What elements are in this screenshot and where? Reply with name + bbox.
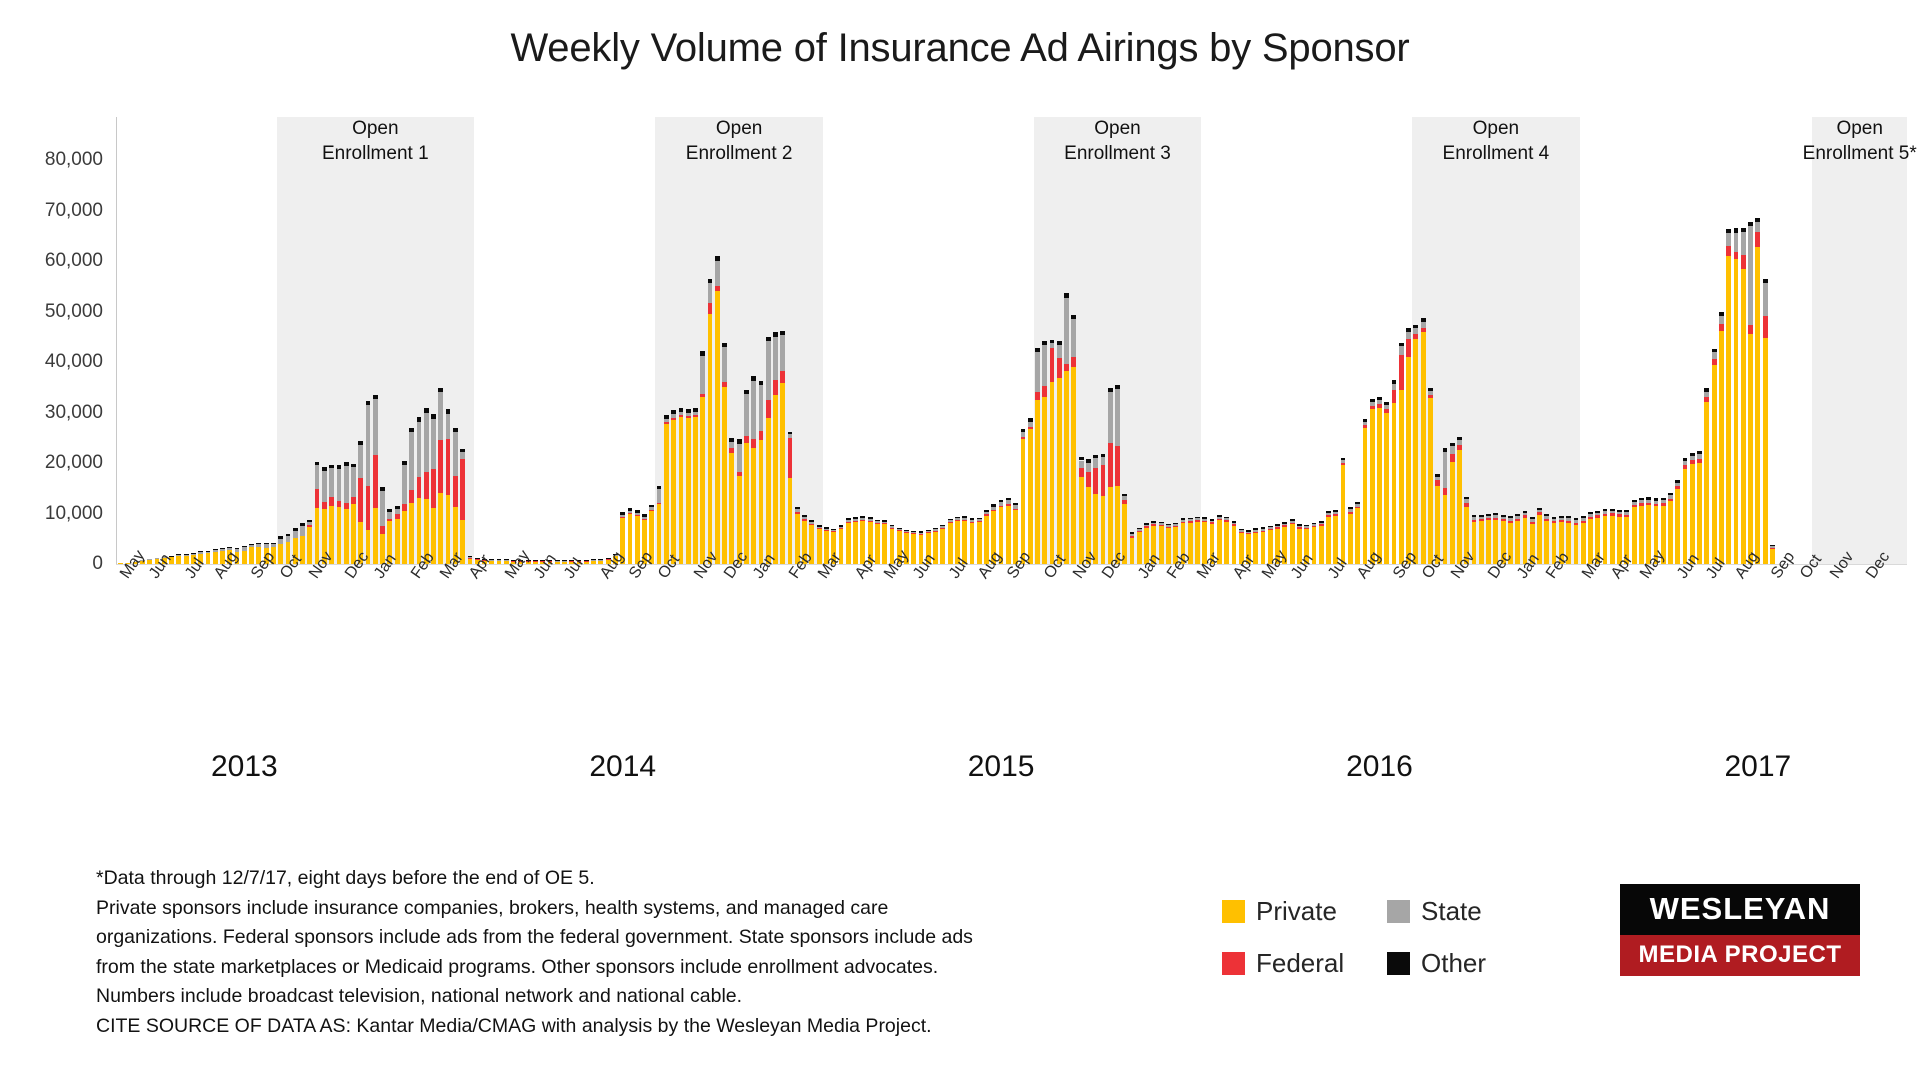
bar-segment-federal [1304,528,1309,529]
bar-segment-other [1610,509,1615,511]
bar-segment-private [591,561,596,564]
legend-item-other[interactable]: Other [1387,948,1552,979]
bar-segment-other [1624,510,1629,512]
bar-segment-private [1632,507,1637,564]
bar-segment-other [453,428,458,433]
bar [817,525,822,564]
bar-segment-other [1726,229,1731,234]
bar [853,517,858,564]
bar-segment-federal [1617,514,1622,516]
bar-segment-federal [307,525,312,528]
bar-segment-other [962,516,967,517]
bar-segment-private [1675,489,1680,564]
bar [1675,480,1680,564]
bar-segment-private [1348,514,1353,565]
bar-segment-federal [657,503,662,504]
bar-segment-other [809,520,814,522]
bar [1763,279,1768,564]
bar-segment-other [307,520,312,522]
bar-segment-other [562,560,567,561]
bar-segment-federal [1253,532,1258,533]
bar-segment-state [824,529,829,530]
bar [1326,511,1331,564]
bar-segment-state [904,531,909,532]
y-axis-tick-label: 30,000 [45,402,103,424]
bar-segment-state [809,522,814,524]
bar-segment-federal [1472,520,1477,522]
bar-segment-state [1588,514,1593,517]
bar-segment-state [1122,496,1127,500]
bar-segment-federal [1515,519,1520,521]
bar-segment-other [860,516,865,518]
bar-segment-other [853,517,858,519]
bar-segment-federal [1115,446,1120,485]
bar-segment-private [1377,408,1382,564]
bar-segment-federal [831,531,836,532]
bar-segment-state [1697,454,1702,459]
bar [176,555,181,564]
bar-segment-state [1086,463,1091,472]
bar-segment-state [380,491,385,526]
footnote-line: organizations. Federal sponsors include … [96,923,1186,953]
bar-segment-federal [402,504,407,511]
bar-segment-state [1661,500,1666,503]
bar-segment-private [977,522,982,564]
bar-segment-private [671,420,676,564]
bar-segment-state [1552,519,1557,522]
bar-segment-state [1624,512,1629,515]
bar-segment-state [1071,319,1076,357]
bar-segment-state [744,394,749,435]
legend-item-federal[interactable]: Federal [1222,948,1387,979]
bar-segment-federal [1639,503,1644,506]
bar-segment-private [1370,409,1375,564]
bar-segment-other [409,428,414,433]
bar [664,415,669,564]
bar-segment-federal [1108,443,1113,487]
bar-segment-state [147,559,152,560]
bar-segment-federal [1239,532,1244,533]
bar-segment-state [468,557,473,558]
bar [424,408,429,564]
bar [366,401,371,564]
bar [1443,448,1448,564]
bar [1683,458,1688,564]
bar-segment-state [1101,457,1106,465]
bar-segment-private [948,523,953,564]
legend-item-state[interactable]: State [1387,896,1552,927]
bar-segment-state [940,526,945,528]
bar-segment-other [504,559,509,560]
bar-segment-other [1181,518,1186,520]
bar-segment-federal [1704,397,1709,402]
bar [1574,518,1579,564]
bar [657,485,662,564]
bar-segment-private [1050,382,1055,564]
bar-segment-private [1057,378,1062,564]
bar [948,519,953,564]
bar-segment-federal [977,521,982,522]
bar [1413,325,1418,564]
bar-segment-other [1515,514,1520,516]
bar-segment-private [1457,450,1462,564]
bar-segment-state [1472,517,1477,520]
bar-segment-state [948,520,953,522]
bar-segment-state [256,544,261,547]
legend-row: FederalOther [1222,948,1552,979]
bar [977,518,982,564]
bar [373,395,378,564]
bar-segment-other [1028,418,1033,421]
bar-segment-state [1748,226,1753,324]
bar-segment-state [1639,500,1644,503]
bar-segment-federal [1566,521,1571,523]
bar-segment-other [744,390,749,395]
bar-segment-other [191,553,196,554]
bar-segment-other [1734,228,1739,233]
bar-segment-state [1050,343,1055,348]
bar-segment-other [780,331,785,336]
bar-segment-state [795,509,800,512]
bar-segment-state [1668,495,1673,498]
bar-segment-state [1079,461,1084,469]
bar-segment-state [1770,546,1775,548]
bar-segment-state [1268,527,1273,529]
bar-segment-state [686,413,691,417]
bar-segment-state [1312,524,1317,526]
bar-segment-federal [1697,459,1702,463]
year-tick-label: 2014 [589,750,656,784]
bar-segment-other [1508,516,1513,518]
bar-segment-federal [409,490,414,503]
bar-segment-other [904,530,909,531]
bar-segment-other [1697,451,1702,454]
bar [1734,228,1739,564]
bar-segment-federal [1232,524,1237,525]
bar-segment-state [1537,510,1542,513]
bar [759,381,764,564]
bar-segment-federal [708,303,713,314]
bar-segment-private [1319,526,1324,564]
bar-segment-state [1210,521,1215,523]
bar-segment-state [1181,520,1186,522]
bar-segment-state [788,434,793,438]
bar-segment-other [991,504,996,506]
bar-segment-federal [751,439,756,448]
bar-segment-state [351,467,356,497]
bar-segment-other [817,525,822,527]
bar [1050,340,1055,564]
legend-label: Other [1421,948,1486,979]
bar-segment-federal [766,400,771,417]
bar-segment-other [1253,528,1258,530]
bar [1137,528,1142,564]
bar-segment-state [1392,384,1397,391]
bar-segment-federal [1050,348,1055,382]
bar-segment-other [933,528,938,529]
bar-segment-other [293,528,298,531]
bar-segment-private [1195,522,1200,564]
bar-segment-other [329,465,334,469]
bar-segment-other [868,517,873,519]
bar-segment-other [497,559,502,560]
bar [686,409,691,564]
bar-segment-other [788,432,793,434]
bar-segment-federal [1348,512,1353,514]
bar-segment-federal [1501,519,1506,521]
bar-segment-state [1413,328,1418,334]
legend-item-private[interactable]: Private [1222,896,1387,927]
bar [446,409,451,564]
bar-segment-other [919,531,924,532]
bar-segment-other [1392,380,1397,384]
bar [1632,500,1637,564]
bar-segment-state [307,522,312,525]
bar [307,520,312,564]
bar-segment-other [766,337,771,342]
bar-segment-state [206,552,211,554]
bar-segment-other [220,548,225,549]
bar-segment-state [1115,389,1120,446]
bar-segment-federal [1151,524,1156,525]
bar-segment-other [402,461,407,465]
bar-segment-other [657,486,662,489]
bar-segment-private [1384,413,1389,564]
bar-segment-state [271,544,276,547]
logo-line-media-project: MEDIA PROJECT [1620,935,1860,976]
bar-segment-other [984,510,989,512]
bar-segment-state [1370,402,1375,406]
bar-segment-other [1261,527,1266,529]
bar-segment-state [759,385,764,430]
bar-segment-state [1734,233,1739,252]
bar [737,439,742,564]
bar [1515,514,1520,564]
bar-segment-private [1035,400,1040,564]
bar-segment-other [1079,457,1084,460]
bar [1450,443,1455,564]
bar-segment-state [831,530,836,531]
bar-segment-other [1333,510,1338,512]
bar-segment-other [1173,523,1178,525]
bar-segment-other [373,395,378,400]
bar-segment-federal [446,439,451,496]
bar-segment-federal [635,515,640,516]
bar-segment-other [1646,497,1651,499]
bar-segment-state [737,444,742,472]
bar [1035,348,1040,564]
bar [1479,515,1484,564]
bar-segment-private [1224,522,1229,564]
bar-segment-federal [1537,512,1542,514]
bar-segment-private [657,504,662,564]
bar [1748,222,1753,564]
bar [497,560,502,564]
bar-segment-other [642,514,647,516]
y-axis-tick-label: 50,000 [45,301,103,323]
bar-segment-state [708,283,713,303]
bar-segment-federal [1021,437,1026,439]
bar-segment-state [635,513,640,515]
bar-segment-other [686,409,691,413]
bar-segment-other [1326,511,1331,513]
bar-segment-federal [395,514,400,519]
year-tick-label: 2015 [968,750,1035,784]
bar-segment-other [1479,515,1484,517]
bar-segment-private [1363,428,1368,564]
bar-segment-state [1290,521,1295,523]
bar [1697,451,1702,564]
bar-segment-federal [315,489,320,508]
bar-segment-private [497,561,502,564]
bar-segment-other [438,388,443,393]
bar-segment-federal [1479,519,1484,521]
bar-segment-other [1523,511,1528,513]
bar-segment-private [1544,521,1549,564]
bar-segment-private [693,417,698,564]
bar [1021,429,1026,564]
bar-segment-state [1530,519,1535,522]
bar-segment-state [911,532,916,533]
bar-segment-private [962,521,967,564]
bar-segment-other [242,546,247,547]
bar-segment-other [227,547,232,548]
bar-segment-other [1042,341,1047,345]
bar [1348,507,1353,564]
bar [453,428,458,564]
bar-segment-federal [1675,486,1680,489]
bar-segment-private [373,508,378,564]
bar-segment-state [628,511,633,513]
bar-segment-state [1217,517,1222,519]
bar-segment-other [249,544,254,545]
bar-segment-state [1523,513,1528,516]
bar-segment-state [1675,483,1680,487]
y-axis-tick-label: 0 [92,553,103,575]
bar-segment-other [1050,340,1055,343]
bar-segment-private [337,507,342,564]
bar-segment-other [1472,515,1477,517]
bar-segment-private [1355,508,1360,564]
bar [1457,437,1462,564]
bar-segment-federal [1333,514,1338,515]
bar [911,531,916,564]
bar-segment-state [991,507,996,510]
bar-segment-state [1457,440,1462,446]
bar [628,508,633,564]
bar-segment-federal [715,286,720,291]
bar-segment-federal [686,416,691,418]
bar-segment-private [402,511,407,564]
bar-segment-state [446,414,451,439]
bar-segment-federal [1632,505,1637,508]
bar-segment-state [1595,513,1600,516]
bar-segment-other [1537,508,1542,510]
bar-segment-other [300,523,305,526]
bar-segment-state [839,527,844,529]
bar-segment-federal [1559,520,1564,522]
bar-segment-other [1195,517,1200,519]
bar-segment-federal [438,440,443,493]
bar-segment-federal [1028,427,1033,430]
bar-segment-other [751,376,756,381]
bar-segment-state [1617,512,1622,515]
bar [1130,532,1135,564]
bar-segment-federal [940,528,945,529]
bar-segment-state [1544,516,1549,519]
footnote-line: *Data through 12/7/17, eight days before… [96,864,1186,894]
bar-segment-private [911,534,916,564]
bar-segment-federal [737,472,742,476]
bar-segment-federal [780,371,785,384]
bar-segment-other [1006,498,1011,501]
legend-label: Private [1256,896,1337,927]
bar [337,465,342,564]
bar-segment-other [1064,293,1069,298]
bar-segment-state [1443,452,1448,487]
bar-segment-federal [809,524,814,525]
bar [715,256,720,564]
bar-segment-private [1690,464,1695,564]
bar-segment-other [176,554,181,555]
y-axis-tick-label: 20,000 [45,452,103,474]
bar-segment-other [315,462,320,466]
bar-segment-state [278,539,283,544]
bar-segment-federal [773,380,778,395]
bar-segment-federal [1770,548,1775,549]
bar-segment-private [1726,256,1731,564]
footnote-line: from the state marketplaces or Medicaid … [96,953,1186,983]
bar-segment-private [1435,486,1440,564]
bar-segment-federal [1457,445,1462,450]
bar-segment-federal [839,528,844,529]
bar-segment-state [999,502,1004,506]
bar-segment-other [431,414,436,419]
bar-segment-other [1581,516,1586,518]
bar-segment-other [831,529,836,530]
bar-segment-state [977,519,982,521]
bar-segment-private [1763,338,1768,564]
bar-segment-federal [322,502,327,510]
bar-segment-state [1341,460,1346,463]
bar [1719,312,1724,564]
bar-segment-state [1275,526,1280,528]
bar-segment-other [1552,517,1557,519]
bar-segment-private [307,527,312,564]
bar-segment-private [278,544,283,564]
bar-segment-state [1028,422,1033,427]
bar-segment-other [264,543,269,544]
bar-segment-state [693,412,698,416]
bar-segment-federal [1377,404,1382,408]
bar [1355,502,1360,564]
bar-segment-state [1130,534,1135,536]
bar-segment-state [337,469,342,501]
bar-segment-state [1355,504,1360,507]
bar-segment-state [387,512,392,519]
bar-segment-federal [1392,390,1397,403]
bar-segment-federal [1661,503,1666,506]
bar [1108,388,1113,564]
bar-segment-federal [1275,527,1280,528]
bar-segment-federal [1624,515,1629,517]
bar-segment-other [213,549,218,550]
bar-segment-private [1704,402,1709,564]
bar-segment-state [1428,391,1433,396]
footnote-line: Numbers include broadcast television, na… [96,982,1186,1012]
bar-segment-other [1755,218,1760,223]
bar-segment-other [839,525,844,526]
